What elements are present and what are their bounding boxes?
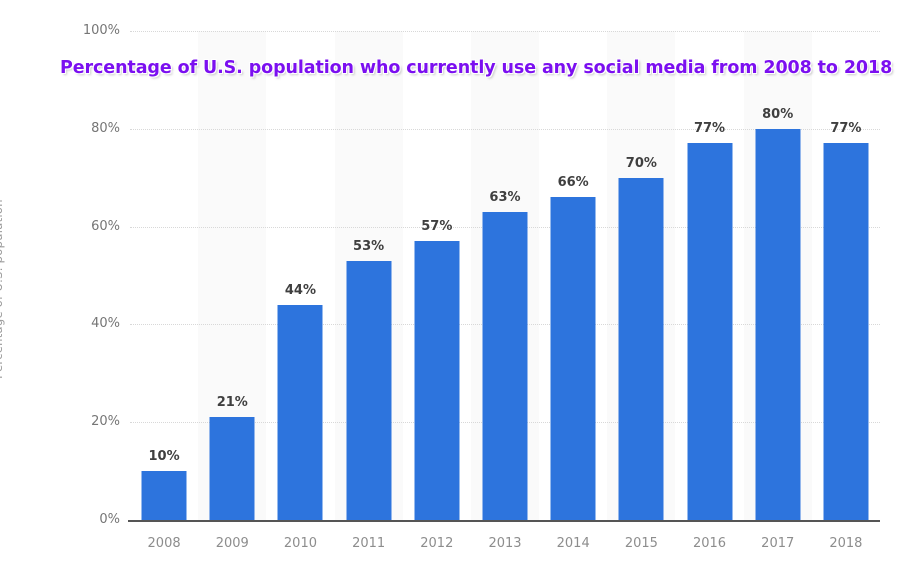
bar-value-label: 63% bbox=[489, 190, 520, 205]
y-tick-label: 80% bbox=[60, 121, 120, 136]
bar-slot: 53% bbox=[335, 31, 403, 520]
bar[interactable] bbox=[687, 143, 732, 520]
bar-value-label: 53% bbox=[353, 239, 384, 254]
bar[interactable] bbox=[346, 261, 391, 520]
bar-value-label: 57% bbox=[421, 219, 452, 234]
y-axis-title: Percentage of U.S. population bbox=[0, 79, 9, 499]
bar-slot: 66% bbox=[539, 31, 607, 520]
bar-value-label: 10% bbox=[149, 449, 180, 464]
bar-slot: 44% bbox=[266, 31, 334, 520]
bar-slot: 77% bbox=[812, 31, 880, 520]
y-tick-label: 20% bbox=[60, 414, 120, 429]
bar-slot: 70% bbox=[607, 31, 675, 520]
y-tick-label: 60% bbox=[60, 219, 120, 234]
y-tick-label: 40% bbox=[60, 316, 120, 331]
bar[interactable] bbox=[551, 197, 596, 520]
bar-slot: 21% bbox=[198, 31, 266, 520]
x-tick-label: 2018 bbox=[829, 536, 862, 551]
bar-slot: 63% bbox=[471, 31, 539, 520]
x-tick-label: 2017 bbox=[761, 536, 794, 551]
bar-slot: 57% bbox=[403, 31, 471, 520]
x-tick-label: 2012 bbox=[420, 536, 453, 551]
x-axis-tick-labels: 2008200920102011201220132014201520162017… bbox=[130, 528, 880, 554]
bar-value-label: 66% bbox=[558, 175, 589, 190]
bar[interactable] bbox=[210, 417, 255, 520]
bar-value-label: 44% bbox=[285, 283, 316, 298]
chart-title: Percentage of U.S. population who curren… bbox=[60, 58, 882, 78]
bar-value-label: 77% bbox=[694, 121, 725, 136]
x-tick-label: 2015 bbox=[625, 536, 658, 551]
bar[interactable] bbox=[755, 129, 800, 520]
x-tick-label: 2009 bbox=[216, 536, 249, 551]
bar[interactable] bbox=[823, 143, 868, 520]
x-tick-label: 2013 bbox=[488, 536, 521, 551]
x-tick-label: 2008 bbox=[148, 536, 181, 551]
plot-area: 10%21%44%53%57%63%66%70%77%80%77% bbox=[130, 31, 880, 520]
bar-value-label: 80% bbox=[762, 107, 793, 122]
axis-baseline bbox=[128, 520, 880, 522]
bar-slot: 77% bbox=[675, 31, 743, 520]
bar[interactable] bbox=[482, 212, 527, 520]
bar[interactable] bbox=[278, 305, 323, 520]
bar[interactable] bbox=[619, 178, 664, 520]
y-tick-label: 0% bbox=[60, 512, 120, 527]
x-tick-label: 2011 bbox=[352, 536, 385, 551]
x-tick-label: 2010 bbox=[284, 536, 317, 551]
x-tick-label: 2014 bbox=[557, 536, 590, 551]
bar[interactable] bbox=[142, 471, 187, 520]
bar-value-label: 21% bbox=[217, 395, 248, 410]
bar-value-label: 77% bbox=[830, 121, 861, 136]
bar[interactable] bbox=[414, 241, 459, 520]
y-axis-tick-labels: 0%20%40%60%80%100% bbox=[60, 31, 120, 520]
bar-value-label: 70% bbox=[626, 156, 657, 171]
y-tick-label: 100% bbox=[60, 23, 120, 38]
bar-slot: 10% bbox=[130, 31, 198, 520]
x-tick-label: 2016 bbox=[693, 536, 726, 551]
bar-slot: 80% bbox=[744, 31, 812, 520]
chart-container: Percentage of U.S. population 0%20%40%60… bbox=[0, 0, 906, 573]
